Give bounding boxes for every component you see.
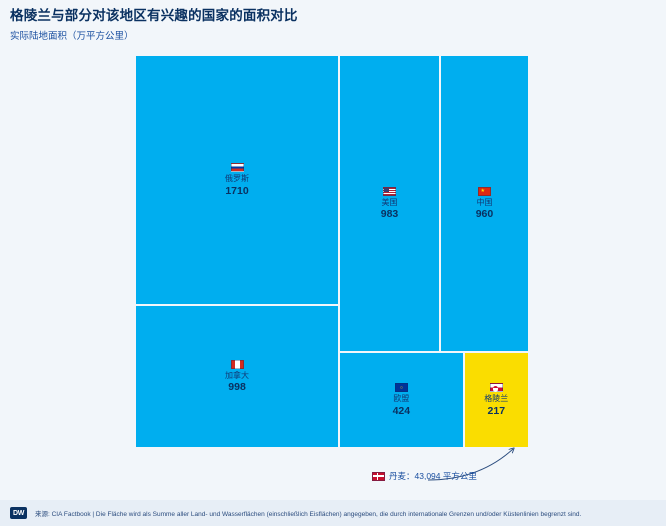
- treemap-cell-value: 983: [381, 208, 399, 220]
- treemap-cell-content: ★中国960: [476, 187, 494, 220]
- treemap-cell-value: 1710: [225, 185, 248, 197]
- flag-russia-icon: [231, 163, 244, 172]
- chart-footer: DW 来源: CIA Factbook | Die Fläche wird al…: [0, 500, 666, 526]
- flag-denmark-icon: [372, 472, 385, 481]
- treemap-cell-中国[interactable]: ★中国960: [440, 55, 529, 352]
- denmark-annotation-text: 丹麦：43,094 平方公里: [389, 470, 477, 482]
- treemap-cell-加拿大[interactable]: 加拿大998: [135, 305, 339, 448]
- treemap-cell-label: 俄罗斯: [225, 174, 249, 183]
- treemap-cell-美国[interactable]: 美国983: [339, 55, 440, 352]
- dw-logo-icon: DW: [10, 507, 27, 519]
- treemap-cell-label: 加拿大: [225, 371, 249, 380]
- treemap-cell-content: 加拿大998: [225, 360, 249, 393]
- treemap-cell-俄罗斯[interactable]: 俄罗斯1710: [135, 55, 339, 305]
- denmark-annotation: 丹麦：43,094 平方公里: [372, 470, 477, 482]
- treemap-cell-格陵兰[interactable]: 格陵兰217: [464, 352, 529, 448]
- flag-usa-icon: [383, 187, 396, 196]
- treemap-cell-value: 217: [488, 405, 506, 417]
- chart-header: 格陵兰与部分对该地区有兴趣的国家的面积对比 实际陆地面积（万平方公里）: [10, 8, 650, 43]
- flag-china-icon: ★: [478, 187, 491, 196]
- flag-eu-icon: ○: [395, 383, 408, 392]
- treemap-cell-label: 美国: [382, 198, 398, 207]
- treemap-cell-label: 中国: [476, 198, 492, 207]
- source-note: 来源: CIA Factbook | Die Fläche wird als S…: [35, 508, 581, 518]
- treemap-cell-content: ○欧盟424: [393, 383, 411, 416]
- treemap-cell-value: 960: [476, 208, 494, 220]
- page-title: 格陵兰与部分对该地区有兴趣的国家的面积对比: [10, 8, 650, 24]
- treemap-chart: 俄罗斯1710加拿大998美国983★中国960○欧盟424格陵兰217: [135, 55, 529, 448]
- treemap-cell-value: 424: [393, 405, 411, 417]
- treemap-cell-label: 格陵兰: [484, 394, 508, 403]
- treemap-cell-content: 美国983: [381, 187, 399, 220]
- page-subtitle: 实际陆地面积（万平方公里）: [10, 31, 650, 42]
- flag-greenland-icon: [490, 383, 503, 392]
- treemap-cell-content: 格陵兰217: [484, 383, 508, 416]
- treemap-cell-value: 998: [228, 381, 246, 393]
- annotation-arrow-icon: [350, 440, 530, 490]
- treemap-cell-label: 欧盟: [393, 394, 409, 403]
- flag-canada-icon: [231, 360, 244, 369]
- treemap-cell-欧盟[interactable]: ○欧盟424: [339, 352, 464, 448]
- treemap-cell-content: 俄罗斯1710: [225, 163, 249, 196]
